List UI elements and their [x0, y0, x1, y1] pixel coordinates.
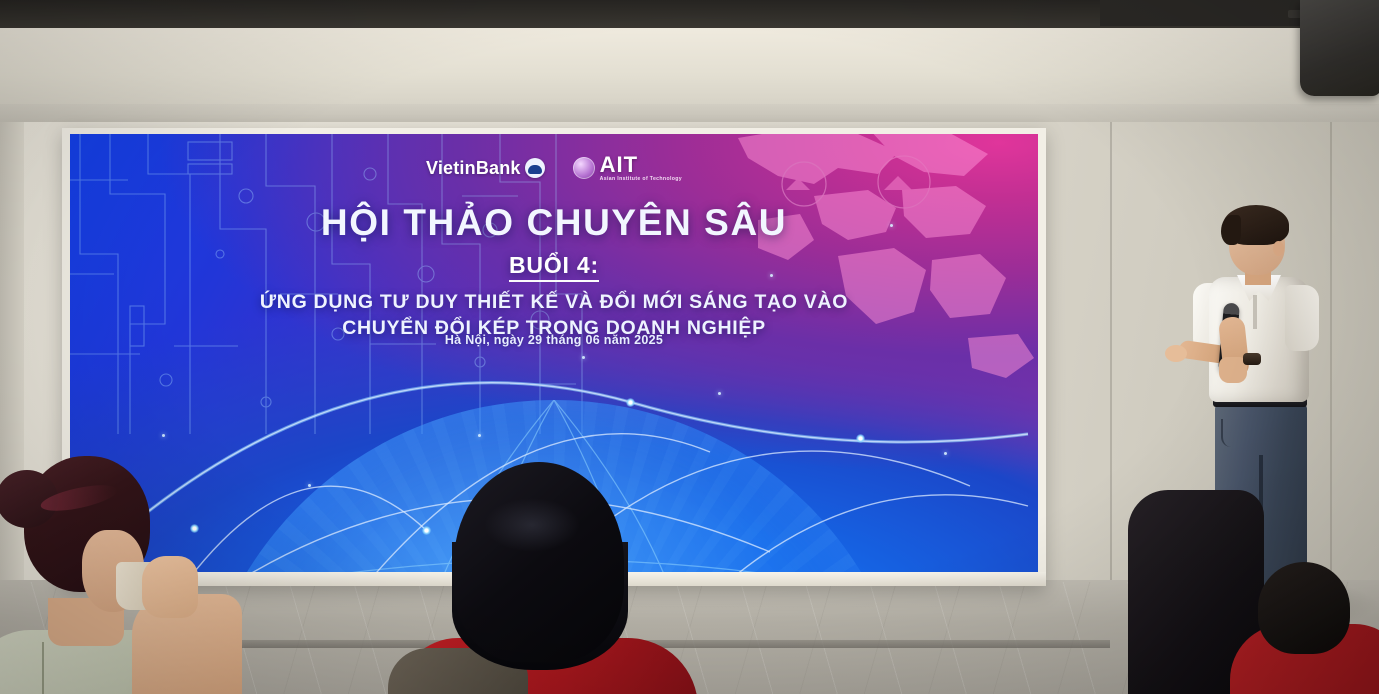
presenter-sleeve-right [1285, 285, 1319, 351]
vietinbank-wordmark: VietinBank [426, 158, 521, 179]
ait-logo: AIT Asian Institute of Technology [573, 154, 682, 182]
screenshot-root: VietinBank AIT Asian Institute of Techno… [0, 0, 1379, 694]
ait-globe-icon [573, 157, 595, 179]
ait-acronym: AIT [600, 154, 682, 176]
ceiling-lip [0, 104, 1379, 124]
wall-seam [1110, 122, 1112, 584]
star-dot [478, 434, 481, 437]
slide-date: Hà Nội, ngày 29 tháng 06 năm 2025 [70, 333, 1038, 347]
vietinbank-logo-icon [525, 158, 545, 178]
slide-subtitle-line-1: ỨNG DỤNG TƯ DUY THIẾT KẾ VÀ ĐỔI MỚI SÁNG… [70, 289, 1038, 315]
presenter-placket [1253, 295, 1257, 329]
ceiling-dark-panel [1100, 0, 1300, 26]
audience-center-hair-sheen [484, 498, 580, 552]
audience-left [0, 452, 240, 694]
audience-left-seam [42, 642, 44, 694]
slide-logo-row: VietinBank AIT Asian Institute of Techno… [70, 154, 1038, 182]
slide-session-wrap: BUỔI 4: [70, 252, 1038, 279]
star-dot [718, 392, 721, 395]
presenter-ear [1273, 241, 1284, 256]
wrist-watch-icon [1243, 353, 1261, 365]
audience-right-hair [1258, 562, 1350, 654]
star-dot [162, 434, 165, 437]
star-dot [308, 484, 311, 487]
ceiling-band [0, 28, 1379, 106]
network-node [626, 398, 635, 407]
network-node [856, 434, 865, 443]
presenter-pocket [1221, 419, 1249, 447]
audience-center [398, 462, 698, 694]
slide-title: HỘI THẢO CHUYÊN SÂU [70, 202, 1038, 244]
presenter-hand-left [1165, 345, 1187, 362]
ait-full-name: Asian Institute of Technology [600, 177, 682, 182]
vietinbank-logo: VietinBank [426, 158, 545, 179]
audience-right [1258, 572, 1379, 694]
presenter-hair-side [1221, 215, 1241, 245]
star-dot [582, 356, 585, 359]
audience-left-hand [142, 556, 198, 618]
audience-center-hair [454, 462, 624, 662]
star-dot [944, 452, 947, 455]
ceiling-speaker-icon [1300, 0, 1379, 96]
slide-session-label: BUỔI 4: [509, 252, 599, 282]
